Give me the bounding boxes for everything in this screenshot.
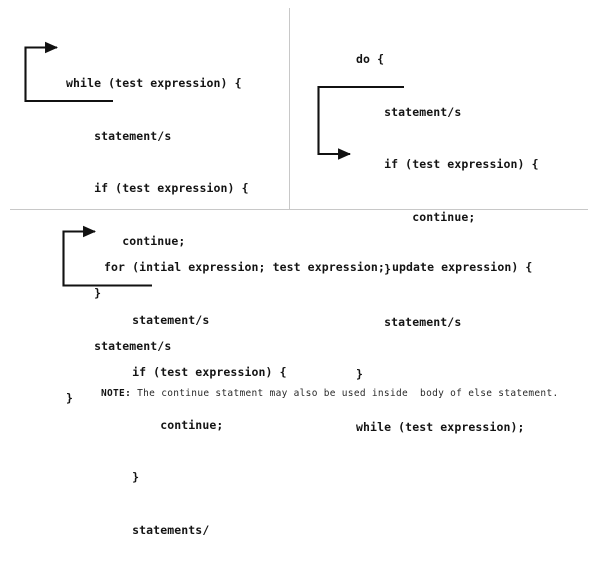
note-label: NOTE: [101, 388, 131, 399]
code-line: if (test expression) { [356, 156, 539, 174]
code-line: if (test expression) { [104, 364, 532, 382]
code-line: } [104, 469, 532, 487]
note-text: The continue statment may also be used i… [131, 388, 558, 399]
code-line: statement/s [356, 104, 539, 122]
code-line: statement/s [104, 312, 532, 330]
code-line: do { [356, 51, 539, 69]
footer-note: NOTE: The continue statment may also be … [101, 387, 559, 400]
code-line: while (test expression) { [66, 75, 249, 93]
code-line: if (test expression) { [66, 180, 249, 198]
code-line: for (intial expression; test expression;… [104, 259, 532, 277]
vertical-divider [289, 8, 290, 209]
code-line: continue; [104, 417, 532, 435]
code-line: statement/s [66, 128, 249, 146]
diagram-canvas: while (test expression) { statement/s if… [0, 0, 600, 411]
code-line: statements/ [104, 522, 532, 540]
